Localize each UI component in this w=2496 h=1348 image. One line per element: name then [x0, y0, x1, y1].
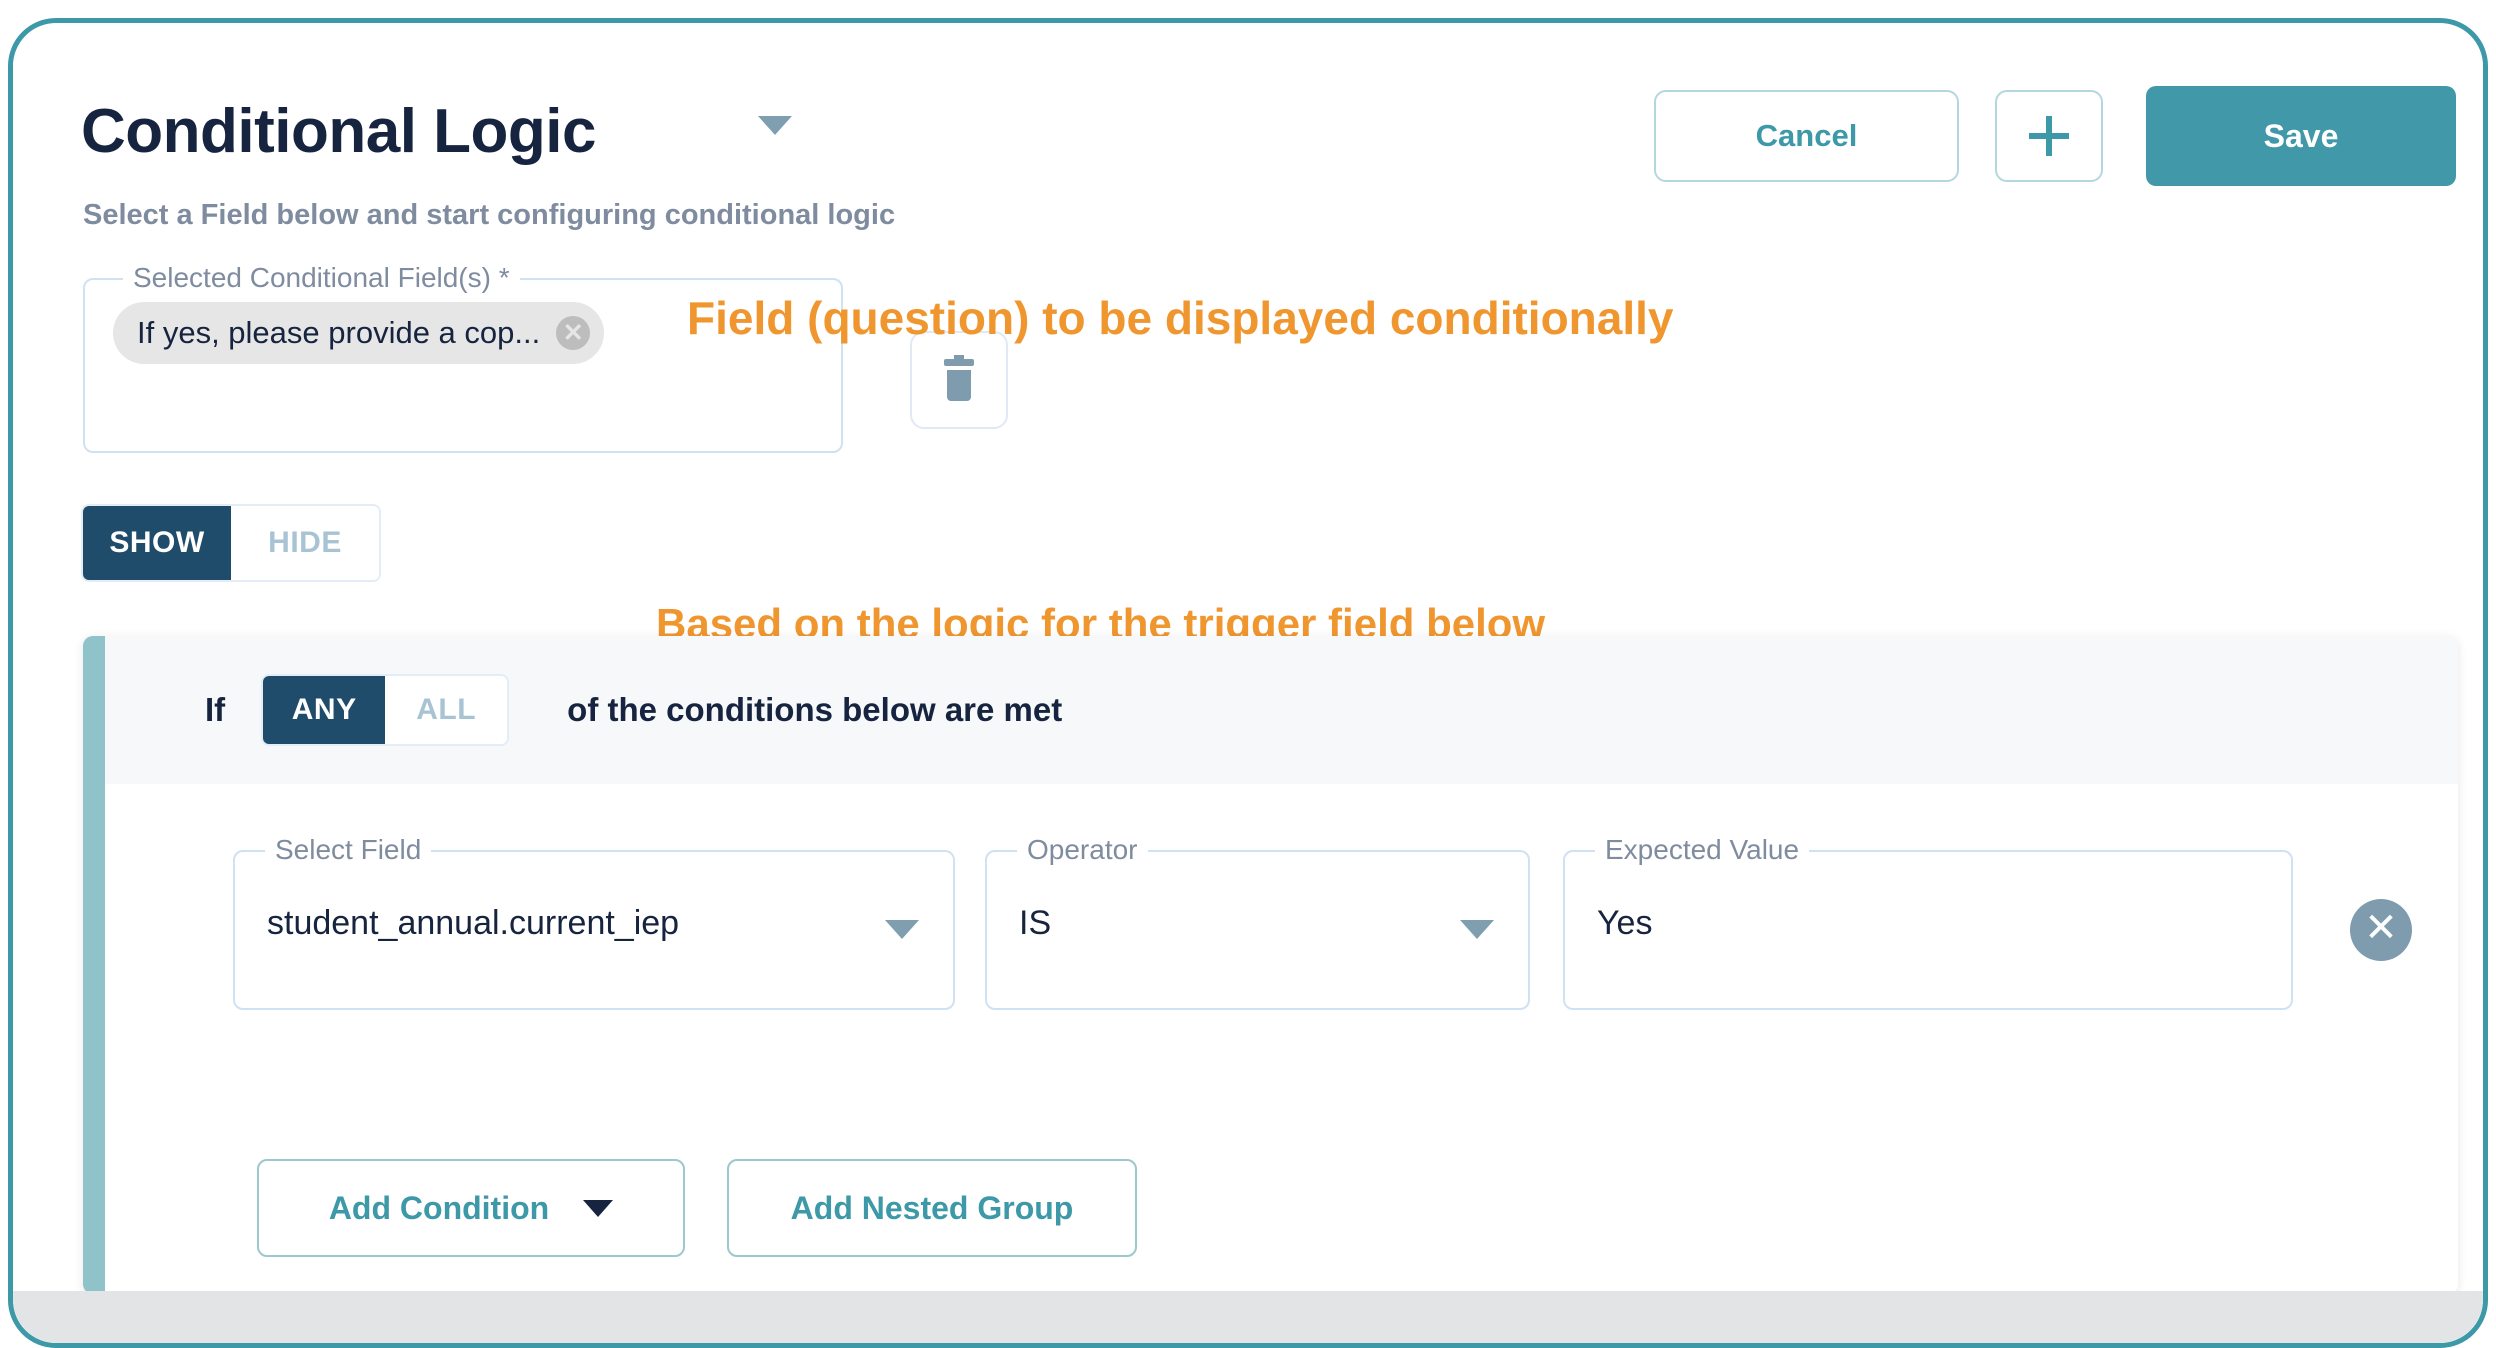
expected-value-label: Expected Value	[1595, 834, 1809, 866]
plus-icon	[2029, 116, 2069, 156]
toggle-any[interactable]: ANY	[263, 676, 385, 744]
select-field-value: student_annual.current_iep	[267, 904, 679, 943]
add-condition-label: Add Condition	[329, 1190, 549, 1227]
select-field-dropdown[interactable]: Select Field student_annual.current_iep	[233, 850, 955, 1010]
condition-group-body: Select Field student_annual.current_iep …	[105, 784, 2458, 1294]
dialog-footer-strip	[13, 1291, 2483, 1343]
trash-icon	[942, 359, 976, 401]
expected-value-input[interactable]: Expected Value Yes	[1563, 850, 2293, 1010]
expected-value-text: Yes	[1597, 904, 1652, 943]
operator-value: IS	[1019, 904, 1051, 943]
toggle-hide[interactable]: HIDE	[231, 506, 379, 580]
toggle-show[interactable]: SHOW	[83, 506, 231, 580]
if-label: If	[205, 691, 225, 729]
visibility-toggle[interactable]: SHOW HIDE	[81, 504, 381, 582]
close-icon[interactable]: ✕	[556, 316, 590, 350]
remove-condition-icon[interactable]: ✕	[2350, 899, 2412, 961]
conditions-suffix-label: of the conditions below are met	[567, 691, 1062, 729]
chevron-down-icon[interactable]	[758, 116, 792, 135]
selected-field-chip-label: If yes, please provide a cop...	[137, 315, 540, 351]
conditional-logic-dialog: Conditional Logic Select a Field below a…	[8, 18, 2488, 1348]
operator-label: Operator	[1017, 834, 1148, 866]
group-accent-bar	[83, 636, 105, 1294]
page-title: Conditional Logic	[81, 101, 596, 163]
condition-group-card: If ANY ALL of the conditions below are m…	[83, 636, 2458, 1294]
page-subtitle: Select a Field below and start configuri…	[83, 201, 895, 230]
match-type-toggle[interactable]: ANY ALL	[261, 674, 509, 746]
operator-dropdown[interactable]: Operator IS	[985, 850, 1530, 1010]
dialog-inner: Conditional Logic Select a Field below a…	[13, 23, 2483, 1343]
selected-fields-label: Selected Conditional Field(s) *	[123, 262, 520, 294]
annotation-field-note: Field (question) to be displayed conditi…	[687, 291, 1674, 345]
add-condition-button[interactable]: Add Condition	[257, 1159, 685, 1257]
add-button[interactable]	[1995, 90, 2103, 182]
add-nested-group-button[interactable]: Add Nested Group	[727, 1159, 1137, 1257]
condition-group-header: If ANY ALL of the conditions below are m…	[105, 636, 2458, 784]
save-button[interactable]: Save	[2146, 86, 2456, 186]
chevron-down-icon	[583, 1200, 613, 1217]
toggle-all[interactable]: ALL	[385, 676, 507, 744]
selected-field-chip[interactable]: If yes, please provide a cop... ✕	[113, 302, 604, 364]
chevron-down-icon[interactable]	[1460, 920, 1494, 939]
chevron-down-icon[interactable]	[885, 920, 919, 939]
delete-button[interactable]	[910, 331, 1008, 429]
select-field-label: Select Field	[265, 834, 431, 866]
cancel-button[interactable]: Cancel	[1654, 90, 1959, 182]
